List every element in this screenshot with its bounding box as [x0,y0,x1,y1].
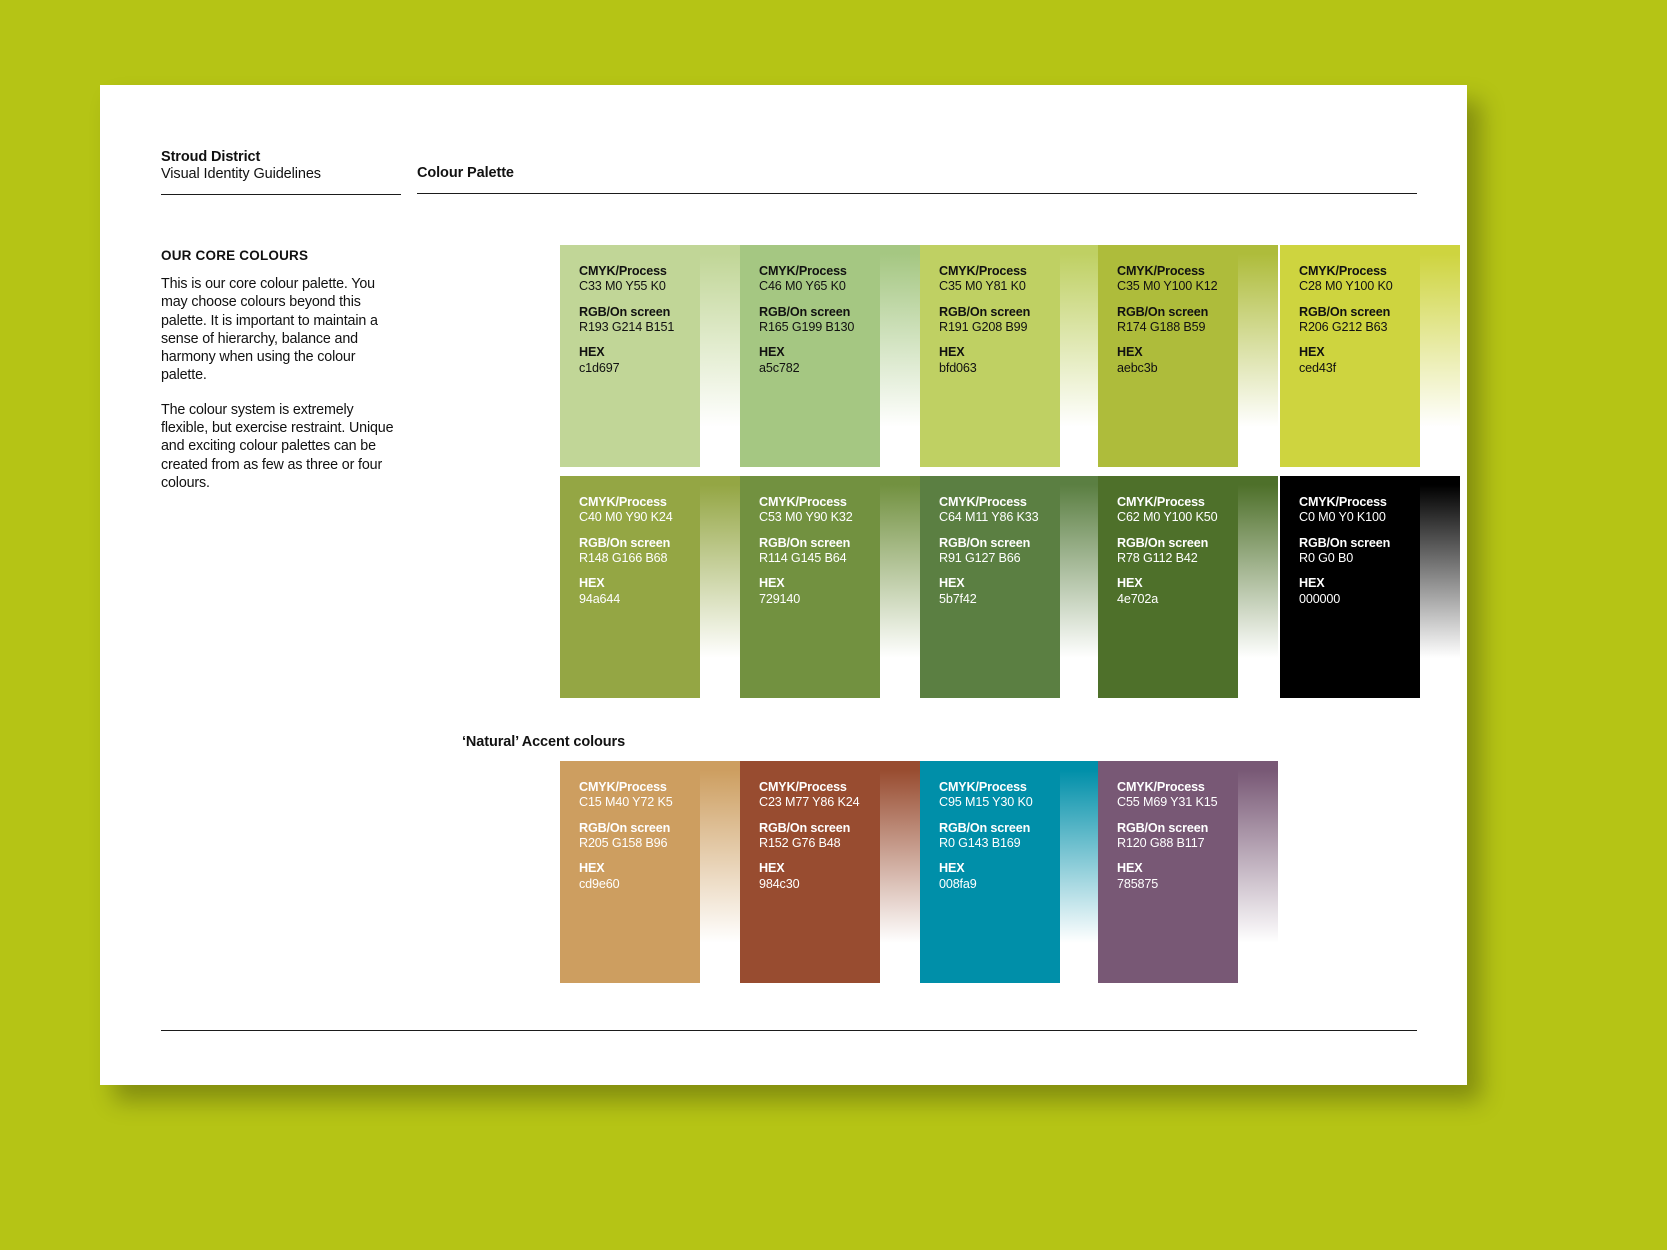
swatch-solid-block: CMYK/ProcessC33 M0 Y55 K0RGB/On screenR1… [560,245,700,467]
colour-swatch: CMYK/ProcessC23 M77 Y86 K24RGB/On screen… [740,761,920,983]
intro-paragraph-1: This is our core colour palette. You may… [161,275,398,385]
swatch-rgb-label: RGB/On screen [579,536,700,551]
swatch-cmyk-value: C35 M0 Y81 K0 [939,279,1060,294]
swatch-cmyk-label: CMYK/Process [1299,495,1420,510]
swatch-cmyk-label: CMYK/Process [759,264,880,279]
colour-swatch: CMYK/ProcessC40 M0 Y90 K24RGB/On screenR… [560,476,740,698]
swatch-cmyk-value: C53 M0 Y90 K32 [759,510,880,525]
page-title: Colour Palette [417,149,1417,182]
swatch-rgb-label: RGB/On screen [1299,305,1420,320]
brand-line-1: Stroud District [161,149,401,166]
swatch-hex-label: HEX [579,345,700,360]
swatch-cmyk-label: CMYK/Process [579,264,700,279]
swatch-cmyk-value: C40 M0 Y90 K24 [579,510,700,525]
swatch-cmyk-value: C28 M0 Y100 K0 [1299,279,1420,294]
swatch-solid-block: CMYK/ProcessC64 M11 Y86 K33RGB/On screen… [920,476,1060,698]
swatch-solid-block: CMYK/ProcessC95 M15 Y30 K0RGB/On screenR… [920,761,1060,983]
swatch-solid-block: CMYK/ProcessC46 M0 Y65 K0RGB/On screenR1… [740,245,880,467]
swatch-cmyk-value: C62 M0 Y100 K50 [1117,510,1238,525]
swatch-rgb-label: RGB/On screen [1117,536,1238,551]
swatch-hex-label: HEX [1117,576,1238,591]
swatch-rgb-value: R193 G214 B151 [579,320,700,335]
swatch-rgb-label: RGB/On screen [1117,821,1238,836]
swatch-cmyk-value: C55 M69 Y31 K15 [1117,795,1238,810]
swatch-rgb-value: R152 G76 B48 [759,836,880,851]
page-sheet: Stroud District Visual Identity Guidelin… [100,85,1467,1085]
swatch-gradient-strip [880,761,920,983]
swatch-solid-block: CMYK/ProcessC62 M0 Y100 K50RGB/On screen… [1098,476,1238,698]
swatch-rgb-value: R148 G166 B68 [579,551,700,566]
swatch-cmyk-value: C35 M0 Y100 K12 [1117,279,1238,294]
accent-section-title: ‘Natural’ Accent colours [460,734,625,750]
swatch-rgb-label: RGB/On screen [939,821,1060,836]
swatch-gradient-strip [1060,476,1100,698]
colour-swatch: CMYK/ProcessC0 M0 Y0 K100RGB/On screenR0… [1280,476,1460,698]
swatch-cmyk-value: C46 M0 Y65 K0 [759,279,880,294]
swatch-cmyk-label: CMYK/Process [1117,264,1238,279]
swatch-solid-block: CMYK/ProcessC55 M69 Y31 K15RGB/On screen… [1098,761,1238,983]
swatch-cmyk-label: CMYK/Process [1117,780,1238,795]
swatch-rgb-label: RGB/On screen [759,305,880,320]
swatch-gradient-strip [880,245,920,467]
colour-swatch: CMYK/ProcessC15 M40 Y72 K5RGB/On screenR… [560,761,740,983]
swatch-cmyk-value: C33 M0 Y55 K0 [579,279,700,294]
swatch-hex-label: HEX [939,345,1060,360]
swatch-rgb-value: R205 G158 B96 [579,836,700,851]
swatch-rgb-label: RGB/On screen [939,305,1060,320]
brand-block: Stroud District Visual Identity Guidelin… [161,149,401,195]
swatch-gradient-strip [700,761,740,983]
swatch-hex-label: HEX [1117,861,1238,876]
swatch-hex-value: 94a644 [579,592,700,607]
intro-column: OUR CORE COLOURS This is our core colour… [161,248,398,508]
swatch-rgb-label: RGB/On screen [579,821,700,836]
swatch-hex-value: cd9e60 [579,877,700,892]
swatch-hex-label: HEX [939,861,1060,876]
swatch-cmyk-value: C0 M0 Y0 K100 [1299,510,1420,525]
core-colour-row-1: CMYK/ProcessC33 M0 Y55 K0RGB/On screenR1… [460,245,625,467]
swatch-rgb-value: R114 G145 B64 [759,551,880,566]
swatch-solid-block: CMYK/ProcessC0 M0 Y0 K100RGB/On screenR0… [1280,476,1420,698]
swatch-gradient-strip [1238,476,1278,698]
swatch-rgb-label: RGB/On screen [939,536,1060,551]
swatch-cmyk-label: CMYK/Process [1299,264,1420,279]
swatch-hex-label: HEX [1117,345,1238,360]
swatch-hex-label: HEX [1299,576,1420,591]
swatch-gradient-strip [700,476,740,698]
intro-eyebrow: OUR CORE COLOURS [161,248,398,263]
swatch-cmyk-value: C15 M40 Y72 K5 [579,795,700,810]
colour-swatch: CMYK/ProcessC62 M0 Y100 K50RGB/On screen… [1098,476,1278,698]
swatch-solid-block: CMYK/ProcessC28 M0 Y100 K0RGB/On screenR… [1280,245,1420,467]
swatch-cmyk-label: CMYK/Process [939,495,1060,510]
swatch-rgb-value: R0 G0 B0 [1299,551,1420,566]
swatch-cmyk-label: CMYK/Process [759,495,880,510]
swatch-cmyk-value: C23 M77 Y86 K24 [759,795,880,810]
colour-swatch: CMYK/ProcessC53 M0 Y90 K32RGB/On screenR… [740,476,920,698]
swatch-hex-label: HEX [759,576,880,591]
swatch-rgb-value: R91 G127 B66 [939,551,1060,566]
swatch-cmyk-label: CMYK/Process [579,495,700,510]
swatch-solid-block: CMYK/ProcessC53 M0 Y90 K32RGB/On screenR… [740,476,880,698]
swatch-hex-value: bfd063 [939,361,1060,376]
swatch-gradient-strip [1420,476,1460,698]
swatch-rgb-value: R78 G112 B42 [1117,551,1238,566]
swatch-cmyk-value: C95 M15 Y30 K0 [939,795,1060,810]
swatch-gradient-strip [1060,761,1100,983]
swatch-rgb-value: R120 G88 B117 [1117,836,1238,851]
swatch-solid-block: CMYK/ProcessC35 M0 Y100 K12RGB/On screen… [1098,245,1238,467]
swatch-hex-value: c1d697 [579,361,700,376]
colour-swatch: CMYK/ProcessC64 M11 Y86 K33RGB/On screen… [920,476,1100,698]
swatch-hex-value: aebc3b [1117,361,1238,376]
colour-swatch: CMYK/ProcessC55 M69 Y31 K15RGB/On screen… [1098,761,1278,983]
swatch-rgb-label: RGB/On screen [759,821,880,836]
swatch-hex-label: HEX [579,576,700,591]
swatch-solid-block: CMYK/ProcessC23 M77 Y86 K24RGB/On screen… [740,761,880,983]
intro-paragraph-2: The colour system is extremely flexible,… [161,401,398,492]
swatch-hex-value: 008fa9 [939,877,1060,892]
swatch-hex-value: 4e702a [1117,592,1238,607]
swatch-solid-block: CMYK/ProcessC40 M0 Y90 K24RGB/On screenR… [560,476,700,698]
swatch-rgb-value: R174 G188 B59 [1117,320,1238,335]
swatch-hex-label: HEX [1299,345,1420,360]
page-header: Stroud District Visual Identity Guidelin… [100,85,1467,195]
swatch-gradient-strip [1238,761,1278,983]
colour-swatch: CMYK/ProcessC33 M0 Y55 K0RGB/On screenR1… [560,245,740,467]
swatch-solid-block: CMYK/ProcessC35 M0 Y81 K0RGB/On screenR1… [920,245,1060,467]
swatch-hex-label: HEX [939,576,1060,591]
swatch-hex-label: HEX [759,345,880,360]
swatch-hex-value: 000000 [1299,592,1420,607]
swatch-cmyk-label: CMYK/Process [1117,495,1238,510]
swatch-cmyk-label: CMYK/Process [939,264,1060,279]
swatch-hex-value: 5b7f42 [939,592,1060,607]
colour-swatch: CMYK/ProcessC46 M0 Y65 K0RGB/On screenR1… [740,245,920,467]
core-colour-row-2: CMYK/ProcessC40 M0 Y90 K24RGB/On screenR… [460,476,625,698]
swatch-rgb-label: RGB/On screen [1117,305,1238,320]
colour-swatch: CMYK/ProcessC35 M0 Y81 K0RGB/On screenR1… [920,245,1100,467]
swatch-rgb-label: RGB/On screen [1299,536,1420,551]
colour-palette: CMYK/ProcessC33 M0 Y55 K0RGB/On screenR1… [460,245,625,983]
colour-swatch: CMYK/ProcessC28 M0 Y100 K0RGB/On screenR… [1280,245,1460,467]
swatch-rgb-label: RGB/On screen [579,305,700,320]
section-title-block: Colour Palette [417,149,1417,194]
swatch-gradient-strip [1060,245,1100,467]
colour-swatch: CMYK/ProcessC95 M15 Y30 K0RGB/On screenR… [920,761,1100,983]
swatch-hex-value: 729140 [759,592,880,607]
swatch-rgb-value: R191 G208 B99 [939,320,1060,335]
accent-colour-row: CMYK/ProcessC15 M40 Y72 K5RGB/On screenR… [460,761,625,983]
swatch-hex-value: 984c30 [759,877,880,892]
swatch-hex-value: ced43f [1299,361,1420,376]
swatch-rgb-value: R0 G143 B169 [939,836,1060,851]
swatch-hex-label: HEX [579,861,700,876]
swatch-solid-block: CMYK/ProcessC15 M40 Y72 K5RGB/On screenR… [560,761,700,983]
swatch-cmyk-label: CMYK/Process [579,780,700,795]
swatch-rgb-value: R206 G212 B63 [1299,320,1420,335]
swatch-cmyk-label: CMYK/Process [939,780,1060,795]
swatch-gradient-strip [1238,245,1278,467]
footer-divider [161,1030,1417,1031]
brand-line-2: Visual Identity Guidelines [161,166,401,183]
swatch-hex-value: 785875 [1117,877,1238,892]
swatch-gradient-strip [880,476,920,698]
swatch-hex-label: HEX [759,861,880,876]
swatch-hex-value: a5c782 [759,361,880,376]
colour-swatch: CMYK/ProcessC35 M0 Y100 K12RGB/On screen… [1098,245,1278,467]
swatch-cmyk-value: C64 M11 Y86 K33 [939,510,1060,525]
swatch-cmyk-label: CMYK/Process [759,780,880,795]
swatch-gradient-strip [700,245,740,467]
swatch-rgb-label: RGB/On screen [759,536,880,551]
swatch-rgb-value: R165 G199 B130 [759,320,880,335]
swatch-gradient-strip [1420,245,1460,467]
